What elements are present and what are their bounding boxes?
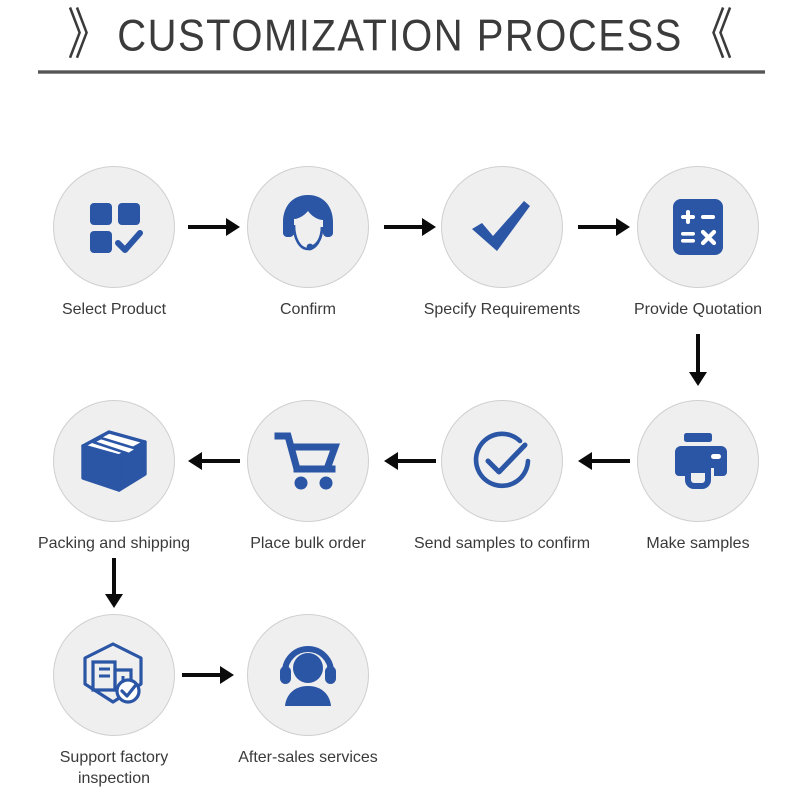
step-send-samples-to-confirm[interactable]: Send samples to confirm xyxy=(412,400,592,554)
step-icon-circle xyxy=(247,166,369,288)
arrow-5-to-6 xyxy=(578,452,630,470)
step-label: Make samples xyxy=(608,533,788,554)
package-box-icon xyxy=(79,428,149,494)
step-specify-requirements[interactable]: Specify Requirements xyxy=(412,166,592,320)
step-label: Packing and shipping xyxy=(24,533,204,554)
step-label: Place bulk order xyxy=(218,533,398,554)
arrow-3-to-4 xyxy=(578,218,630,236)
step-label: After-sales services xyxy=(218,747,398,768)
step-icon-circle xyxy=(53,614,175,736)
step-packing-and-shipping[interactable]: Packing and shipping xyxy=(24,400,204,554)
step-icon-circle xyxy=(247,400,369,522)
calculator-icon xyxy=(667,196,729,258)
headset-person-icon xyxy=(272,642,344,708)
step-provide-quotation[interactable]: Provide Quotation xyxy=(608,166,788,320)
arrow-2-to-3 xyxy=(384,218,436,236)
circle-check-icon xyxy=(468,427,536,495)
title-divider xyxy=(38,70,765,74)
step-support-factory-inspection[interactable]: Support factory inspection xyxy=(24,614,204,789)
printer-icon xyxy=(665,430,731,492)
step-icon-circle xyxy=(441,400,563,522)
factory-inspection-icon xyxy=(79,640,149,710)
step-icon-circle xyxy=(247,614,369,736)
checkmark-icon xyxy=(466,191,538,263)
step-icon-circle xyxy=(441,166,563,288)
step-icon-circle xyxy=(53,166,175,288)
chevron-double-right-icon: 》 xyxy=(67,9,111,64)
shopping-cart-icon xyxy=(274,430,342,492)
step-place-bulk-order[interactable]: Place bulk order xyxy=(218,400,398,554)
step-label: Specify Requirements xyxy=(412,299,592,320)
step-icon-circle xyxy=(637,166,759,288)
arrow-1-to-2 xyxy=(188,218,240,236)
step-icon-circle xyxy=(637,400,759,522)
title-row: 》 CUSTOMIZATION PROCESS 《 xyxy=(0,8,800,64)
step-label: Select Product xyxy=(24,299,204,320)
page-title: CUSTOMIZATION PROCESS xyxy=(117,12,683,59)
arrow-7-to-8 xyxy=(188,452,240,470)
step-label: Send samples to confirm xyxy=(412,533,592,554)
step-label: Provide Quotation xyxy=(608,299,788,320)
arrow-6-to-7 xyxy=(384,452,436,470)
arrow-4-to-5 xyxy=(689,334,707,386)
step-select-product[interactable]: Select Product xyxy=(24,166,204,320)
step-make-samples[interactable]: Make samples xyxy=(608,400,788,554)
step-icon-circle xyxy=(53,400,175,522)
arrow-8-to-9 xyxy=(105,558,123,608)
step-after-sales-services[interactable]: After-sales services xyxy=(218,614,398,768)
chevron-double-left-icon: 《 xyxy=(689,9,733,64)
arrow-9-to-10 xyxy=(182,666,234,684)
step-label: Support factory inspection xyxy=(24,747,204,789)
support-agent-icon xyxy=(270,189,346,265)
step-label: Confirm xyxy=(218,299,398,320)
step-confirm[interactable]: Confirm xyxy=(218,166,398,320)
grid-check-icon xyxy=(82,195,146,259)
header: 》 CUSTOMIZATION PROCESS 《 xyxy=(0,0,800,92)
